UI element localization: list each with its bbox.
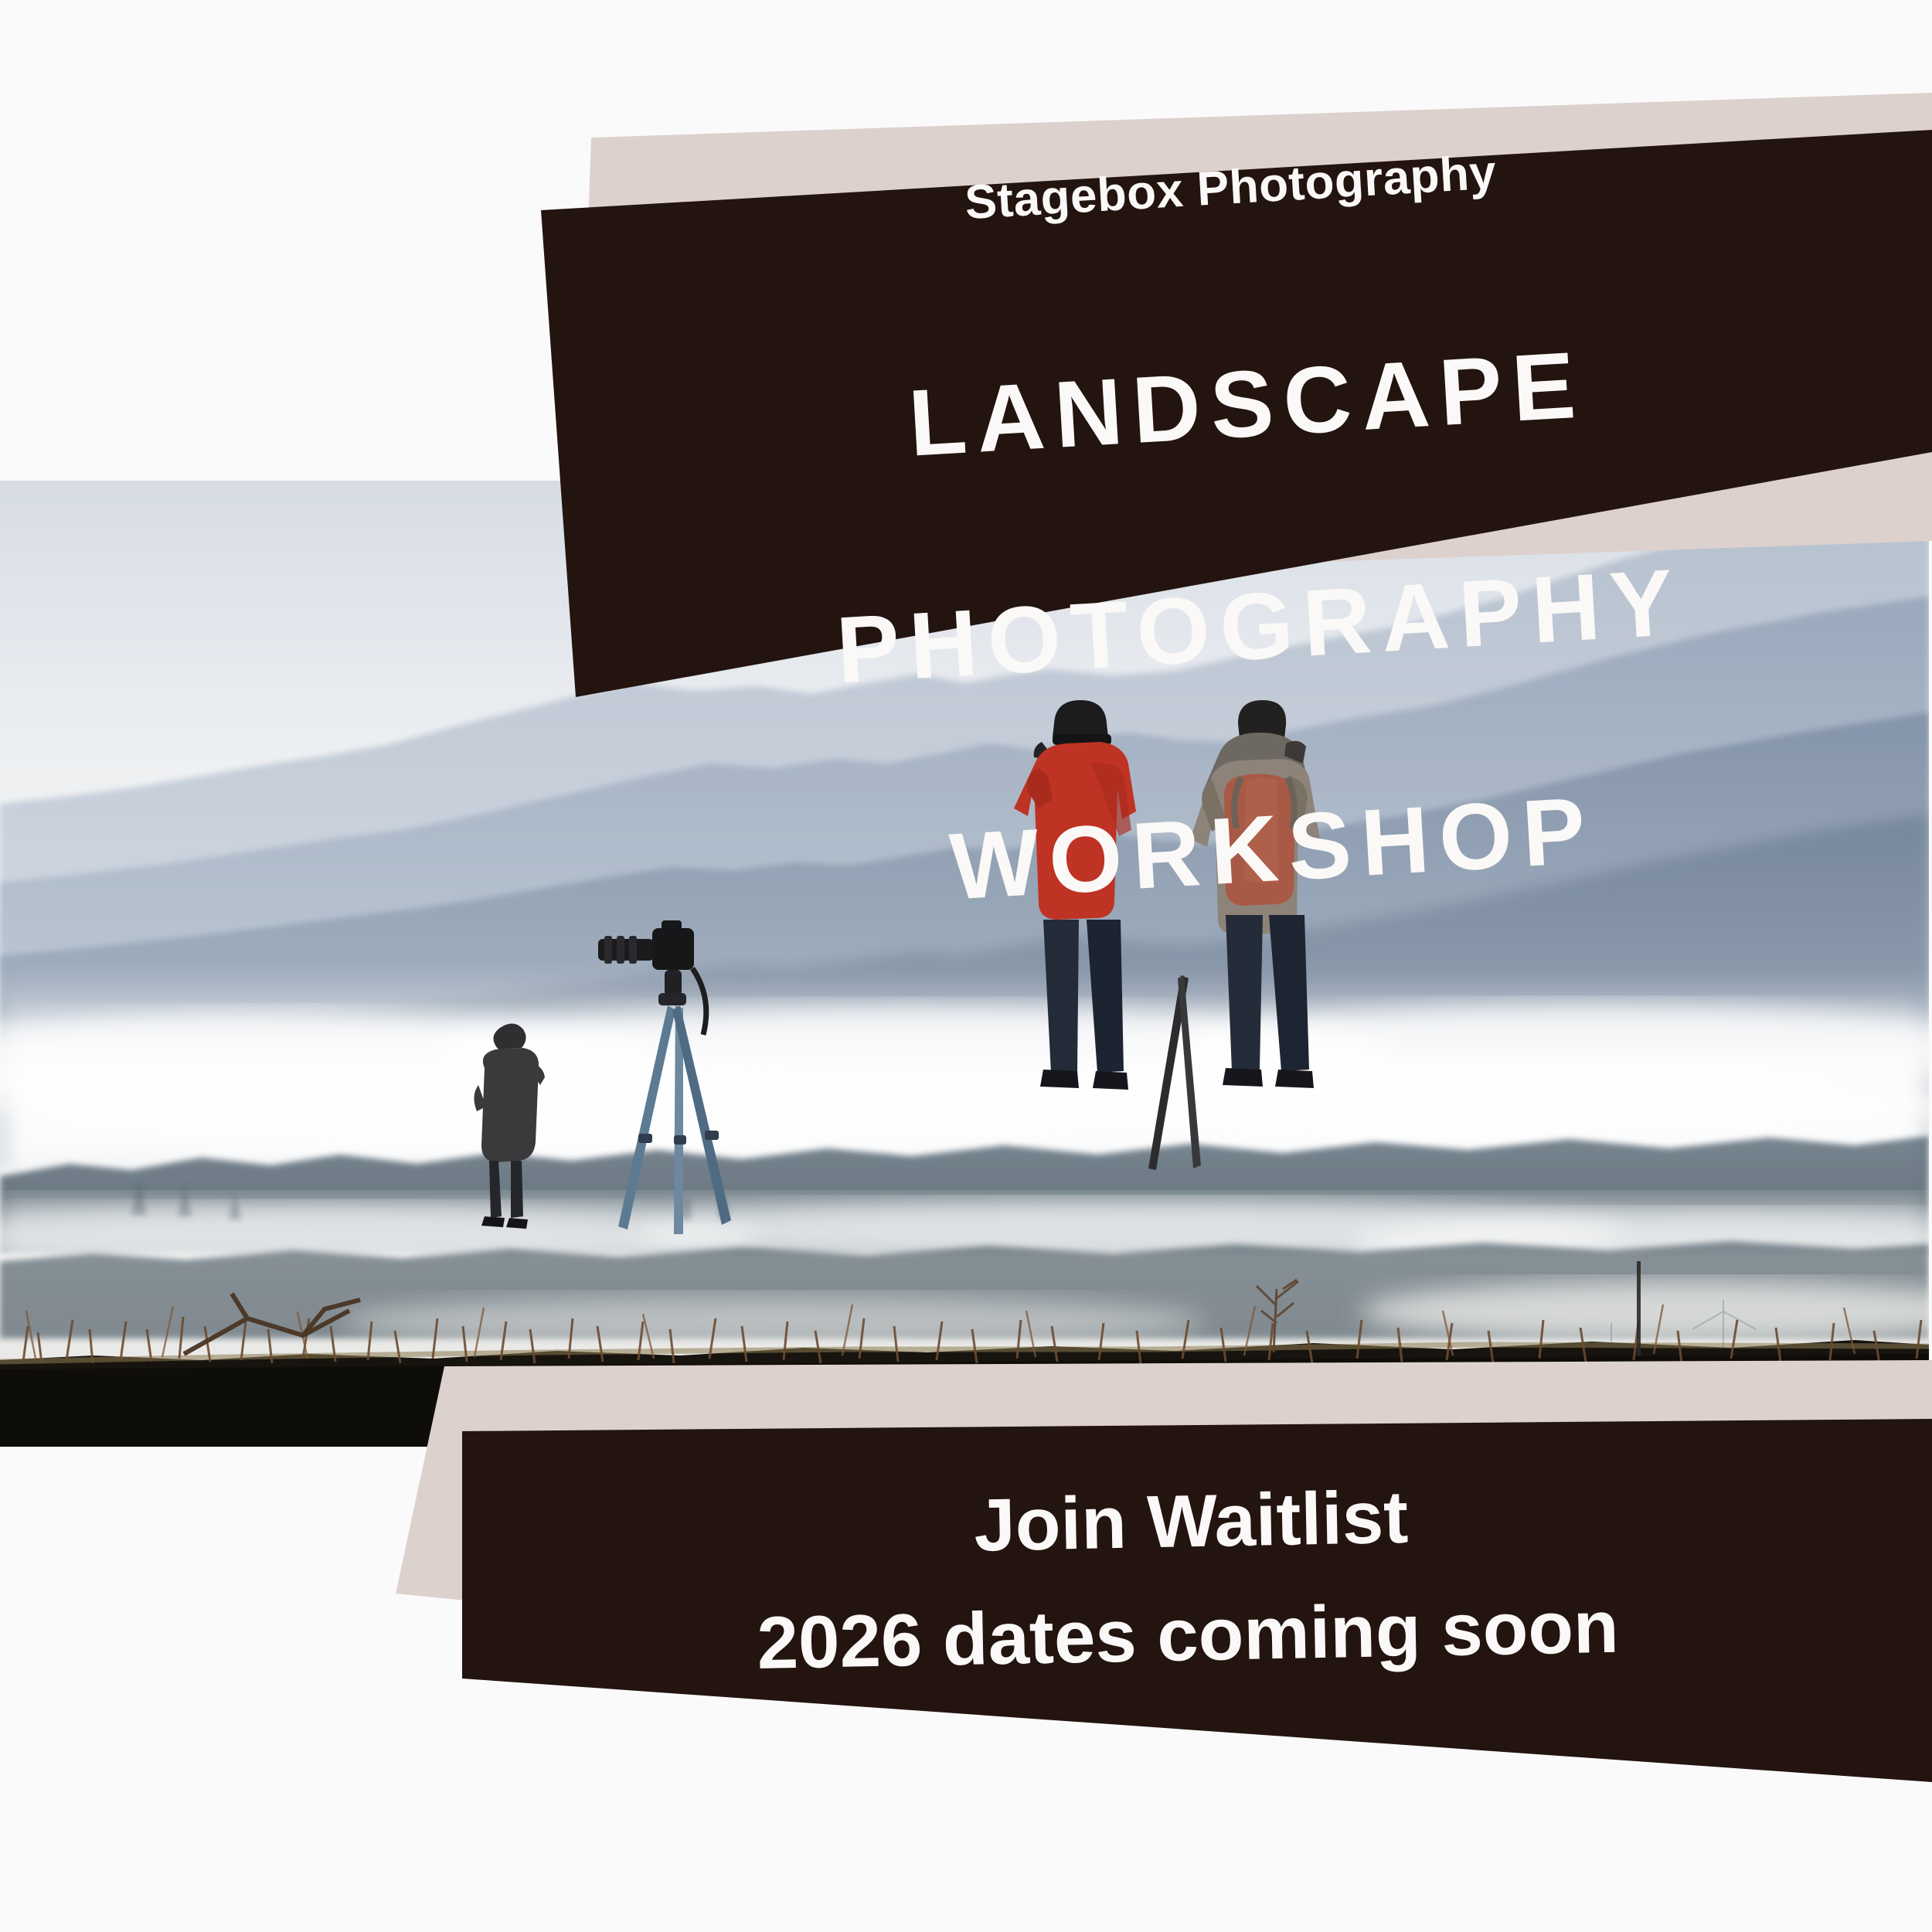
poster-canvas: Stagebox Photography LANDSCAPE PHOTOGRAP…: [0, 0, 1932, 1932]
tripod-with-camera: [587, 902, 750, 1265]
crouching-photographer: [444, 1014, 576, 1246]
monopod: [1133, 975, 1210, 1176]
